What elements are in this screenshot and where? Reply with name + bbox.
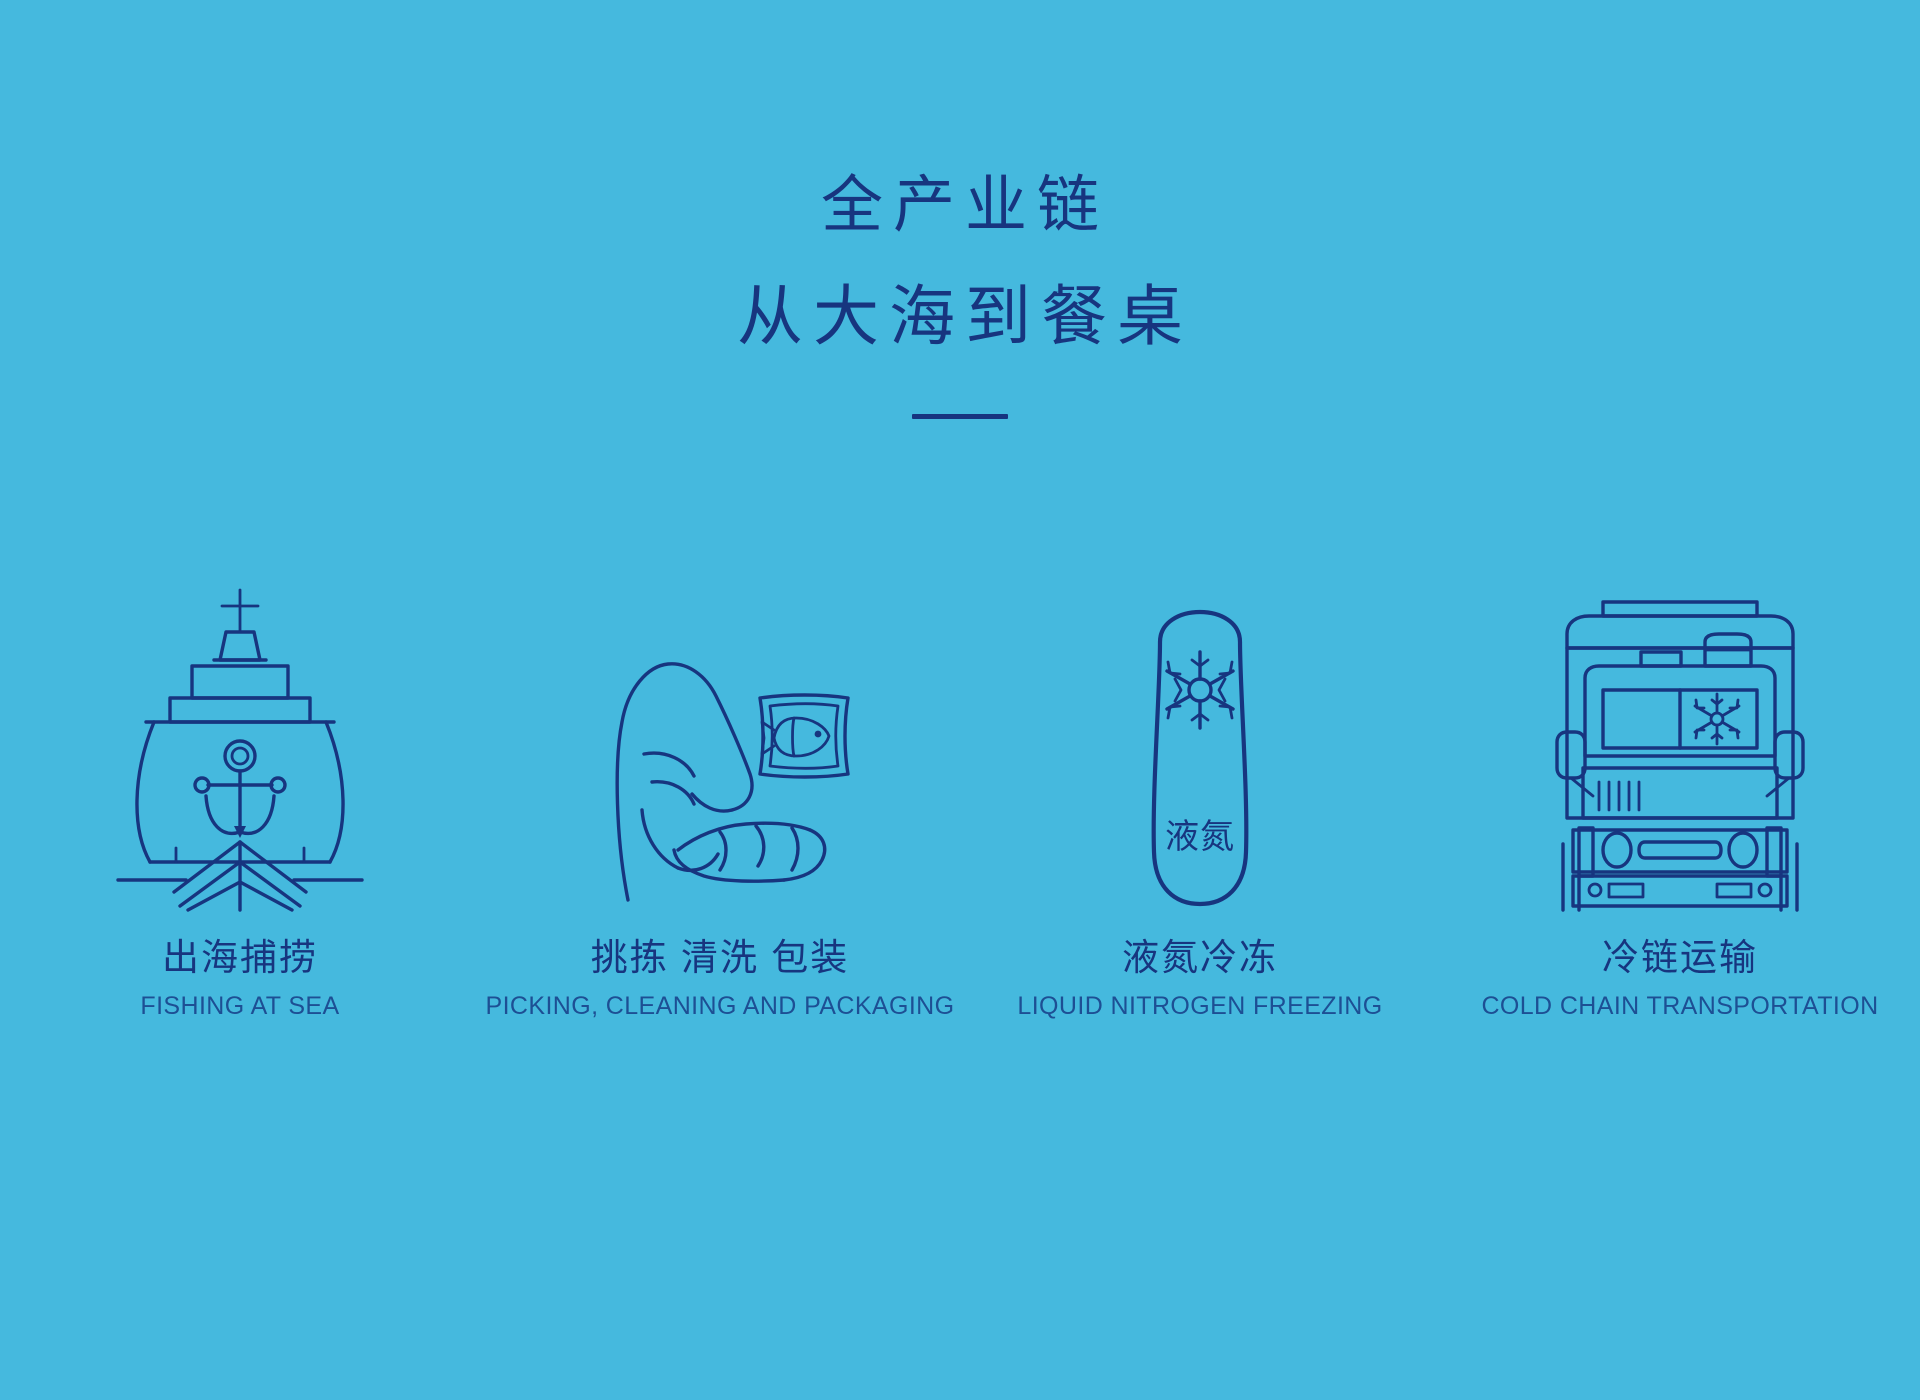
step-liquid-nitrogen-freezing[interactable]: 液氮 液氮冷冻 LIQUID NITROGEN FREEZING bbox=[960, 510, 1440, 1026]
fishing-boat-icon-box bbox=[110, 510, 370, 910]
page-title-line-2: 从大海到餐桌 bbox=[0, 262, 1920, 374]
step-picking-cleaning-packaging[interactable]: 挑拣 清洗 包装 PICKING, CLEANING AND PACKAGING bbox=[480, 510, 960, 1026]
page-title-line-1: 全产业链 bbox=[0, 150, 1920, 262]
refrigerated-truck-icon bbox=[1545, 590, 1815, 910]
title-divider bbox=[912, 414, 1008, 419]
fishing-boat-icon bbox=[110, 580, 370, 910]
step-caption: 挑拣 清洗 包装 PICKING, CLEANING AND PACKAGING bbox=[480, 934, 960, 1026]
step-fishing-at-sea[interactable]: 出海捕捞 FISHING AT SEA bbox=[0, 510, 480, 1026]
step-label-en: PICKING, CLEANING AND PACKAGING bbox=[480, 986, 960, 1026]
step-caption: 出海捕捞 FISHING AT SEA bbox=[0, 934, 480, 1026]
liquid-nitrogen-tank-icon-box: 液氮 bbox=[1115, 510, 1285, 910]
title-divider-wrap bbox=[0, 406, 1920, 424]
snowflake-icon bbox=[1695, 694, 1739, 744]
process-steps: 出海捕捞 FISHING AT SEA bbox=[0, 510, 1920, 1026]
step-cold-chain-transportation[interactable]: 冷链运输 COLD CHAIN TRANSPORTATION bbox=[1440, 510, 1920, 1026]
step-label-cn: 液氮冷冻 bbox=[960, 934, 1440, 982]
step-label-cn: 出海捕捞 bbox=[0, 934, 480, 982]
refrigerated-truck-icon-box bbox=[1545, 510, 1815, 910]
hands-fish-package-icon-box bbox=[570, 510, 870, 910]
step-caption: 液氮冷冻 LIQUID NITROGEN FREEZING bbox=[960, 934, 1440, 1026]
step-label-cn: 冷链运输 bbox=[1440, 934, 1920, 982]
liquid-nitrogen-tank-icon: 液氮 bbox=[1115, 580, 1285, 910]
snowflake-icon bbox=[1167, 652, 1233, 728]
step-label-en: COLD CHAIN TRANSPORTATION bbox=[1440, 986, 1920, 1026]
infographic-page: 全产业链 从大海到餐桌 bbox=[0, 0, 1920, 1400]
step-label-cn: 挑拣 清洗 包装 bbox=[480, 934, 960, 982]
page-header: 全产业链 从大海到餐桌 bbox=[0, 150, 1920, 424]
step-label-en: LIQUID NITROGEN FREEZING bbox=[960, 986, 1440, 1026]
step-label-en: FISHING AT SEA bbox=[0, 986, 480, 1026]
tank-label-text: 液氮 bbox=[1165, 818, 1235, 856]
hands-fish-package-icon bbox=[570, 610, 870, 910]
step-caption: 冷链运输 COLD CHAIN TRANSPORTATION bbox=[1440, 934, 1920, 1026]
